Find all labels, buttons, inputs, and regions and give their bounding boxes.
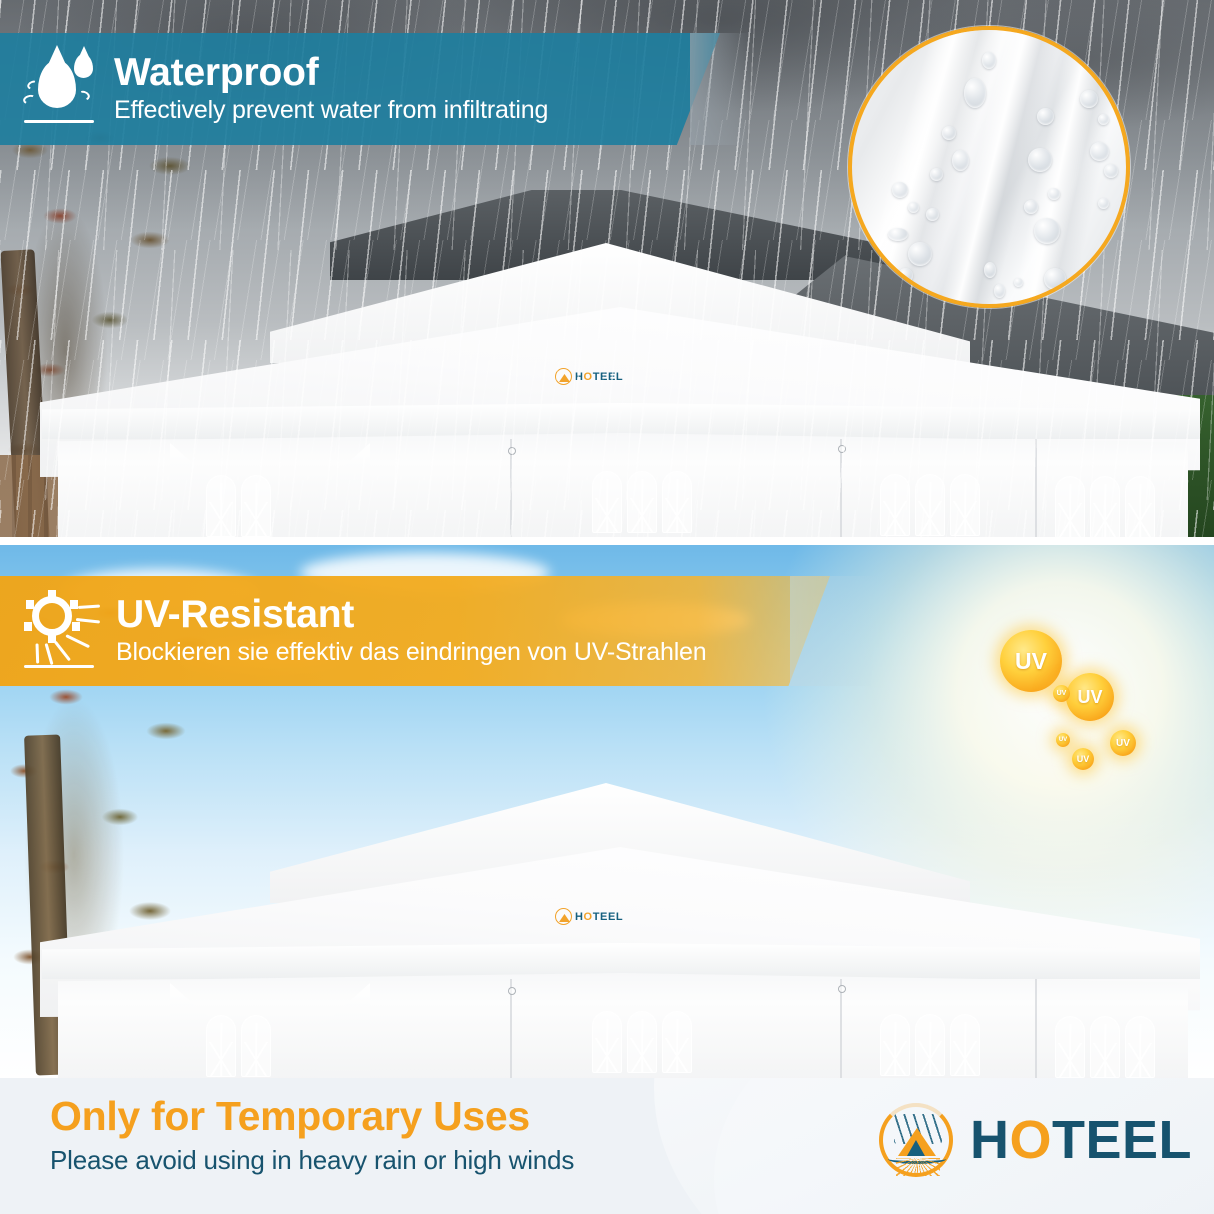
canopy-tent-uv: HOTEEL	[40, 783, 1214, 1078]
arch-window	[880, 474, 910, 536]
waterproof-title: Waterproof	[114, 53, 548, 94]
wall-grommet	[508, 987, 516, 995]
sun-ray	[45, 643, 54, 665]
sun-ray	[78, 604, 100, 609]
waterproof-banner: Waterproof Effectively prevent water fro…	[0, 33, 750, 145]
waterproof-subtitle: Effectively prevent water from infiltrat…	[114, 95, 548, 125]
sun-ray	[36, 643, 40, 663]
tent-logo-mark-icon	[555, 368, 572, 385]
water-droplet	[982, 52, 996, 69]
window-group	[592, 471, 692, 533]
arch-window	[950, 474, 980, 536]
sun-icon	[22, 592, 100, 670]
wall-grommet	[838, 985, 846, 993]
water-droplet	[1024, 200, 1038, 214]
water-droplet	[926, 208, 939, 221]
surface-line	[24, 120, 94, 124]
arch-window	[662, 1011, 692, 1073]
water-droplet	[1028, 148, 1052, 172]
wall-grommet	[838, 445, 846, 453]
uv-badge: UV	[1056, 733, 1070, 747]
sun-spike	[72, 622, 80, 631]
water-droplet	[1037, 108, 1054, 125]
arch-window	[880, 1014, 910, 1076]
water-droplet	[1098, 114, 1109, 125]
water-droplet	[994, 284, 1005, 298]
wall-seam	[840, 439, 842, 537]
sun-spike	[48, 590, 56, 599]
splash-mark	[22, 93, 37, 105]
footer-bar: Only for Temporary Uses Please avoid usi…	[0, 1078, 1214, 1214]
arch-window	[592, 471, 622, 533]
arch-window	[662, 471, 692, 533]
water-droplet	[930, 168, 943, 181]
water-droplet	[908, 202, 919, 213]
brand-logo-mark-icon	[876, 1100, 956, 1180]
water-droplet	[1090, 142, 1109, 161]
arch-window	[1055, 1016, 1085, 1078]
water-drop-small	[74, 54, 93, 78]
wall-grommet	[508, 447, 516, 455]
arch-window	[627, 471, 657, 533]
water-drop-large	[38, 60, 76, 108]
arch-window	[592, 1011, 622, 1073]
banner-tail	[690, 33, 750, 145]
water-droplet	[1034, 218, 1060, 244]
uv-subtitle: Blockieren sie effektiv das eindringen v…	[116, 637, 706, 667]
uv-badge: UV	[1000, 630, 1062, 692]
uv-badge: UV	[1110, 730, 1136, 756]
water-droplet	[984, 262, 996, 278]
arch-window	[915, 1014, 945, 1076]
sun-ray	[54, 641, 71, 662]
uv-badge: UV	[1072, 748, 1094, 770]
tent-brand-logo: HOTEEL	[555, 368, 623, 385]
arch-window	[950, 1014, 980, 1076]
arch-window	[915, 474, 945, 536]
surface-line	[24, 665, 94, 669]
water-droplet	[964, 78, 986, 108]
uv-badge: UV	[1053, 685, 1070, 702]
uv-badge: UV	[1066, 673, 1114, 721]
sun-core	[32, 596, 72, 636]
window-group	[1055, 1016, 1155, 1078]
window-group	[206, 475, 271, 537]
wall-seam	[840, 979, 842, 1078]
logo-sun-rays-icon	[896, 1158, 940, 1176]
tent-logo-mark-icon	[555, 908, 572, 925]
water-droplet	[888, 228, 908, 241]
window-group	[1055, 476, 1155, 537]
sun-spike	[26, 600, 34, 609]
water-droplet	[942, 126, 956, 140]
water-droplet	[1098, 198, 1109, 209]
water-droplet	[908, 242, 932, 266]
window-group	[880, 474, 980, 536]
product-feature-image: HOTEEL	[0, 0, 1214, 1214]
water-droplet	[952, 150, 969, 171]
arch-window	[206, 1015, 236, 1077]
sun-ray	[65, 634, 90, 648]
water-droplet	[1044, 268, 1066, 290]
arch-window	[1055, 476, 1085, 537]
arch-window	[241, 475, 271, 537]
wall-seam	[1035, 439, 1037, 537]
arch-window	[206, 475, 236, 537]
water-droplet	[1104, 164, 1118, 178]
footer-title: Only for Temporary Uses	[50, 1094, 574, 1139]
arch-window	[1125, 1016, 1155, 1078]
arch-window	[1090, 476, 1120, 537]
window-group	[880, 1014, 980, 1076]
waterproof-panel: HOTEEL	[0, 0, 1214, 537]
sun-spike	[24, 622, 32, 631]
footer-subtitle: Please avoid using in heavy rain or high…	[50, 1145, 574, 1176]
water-droplet	[1064, 292, 1076, 304]
uv-resistant-panel: HOTEEL UV UV UV UV UV UV	[0, 545, 1214, 1078]
uv-banner: UV-Resistant Blockieren sie effektiv das…	[0, 576, 880, 686]
banner-tail	[790, 576, 880, 686]
footer-message: Only for Temporary Uses Please avoid usi…	[50, 1094, 574, 1176]
splash-mark	[77, 89, 91, 102]
water-droplet	[1048, 188, 1060, 200]
waterproof-fabric-closeup	[848, 26, 1130, 308]
water-droplet	[898, 268, 913, 283]
sun-spike	[70, 600, 78, 609]
water-droplet	[1014, 278, 1023, 287]
uv-title: UV-Resistant	[116, 595, 706, 636]
arch-window	[241, 1015, 271, 1077]
brand-logo-text: HOTEEL	[970, 1113, 1192, 1167]
wall-seam	[1035, 979, 1037, 1078]
window-group	[206, 1015, 271, 1077]
tent-brand-logo: HOTEEL	[555, 908, 623, 925]
window-group	[592, 1011, 692, 1073]
brand-logo: HOTEEL	[876, 1100, 1192, 1180]
tent-logo-text: HOTEEL	[575, 371, 623, 383]
tent-logo-text: HOTEEL	[575, 911, 623, 923]
arch-window	[1125, 476, 1155, 537]
arch-window	[1090, 1016, 1120, 1078]
arch-window	[627, 1011, 657, 1073]
water-droplet	[1080, 90, 1098, 108]
water-drop-icon	[22, 51, 98, 127]
water-droplet	[892, 182, 908, 198]
